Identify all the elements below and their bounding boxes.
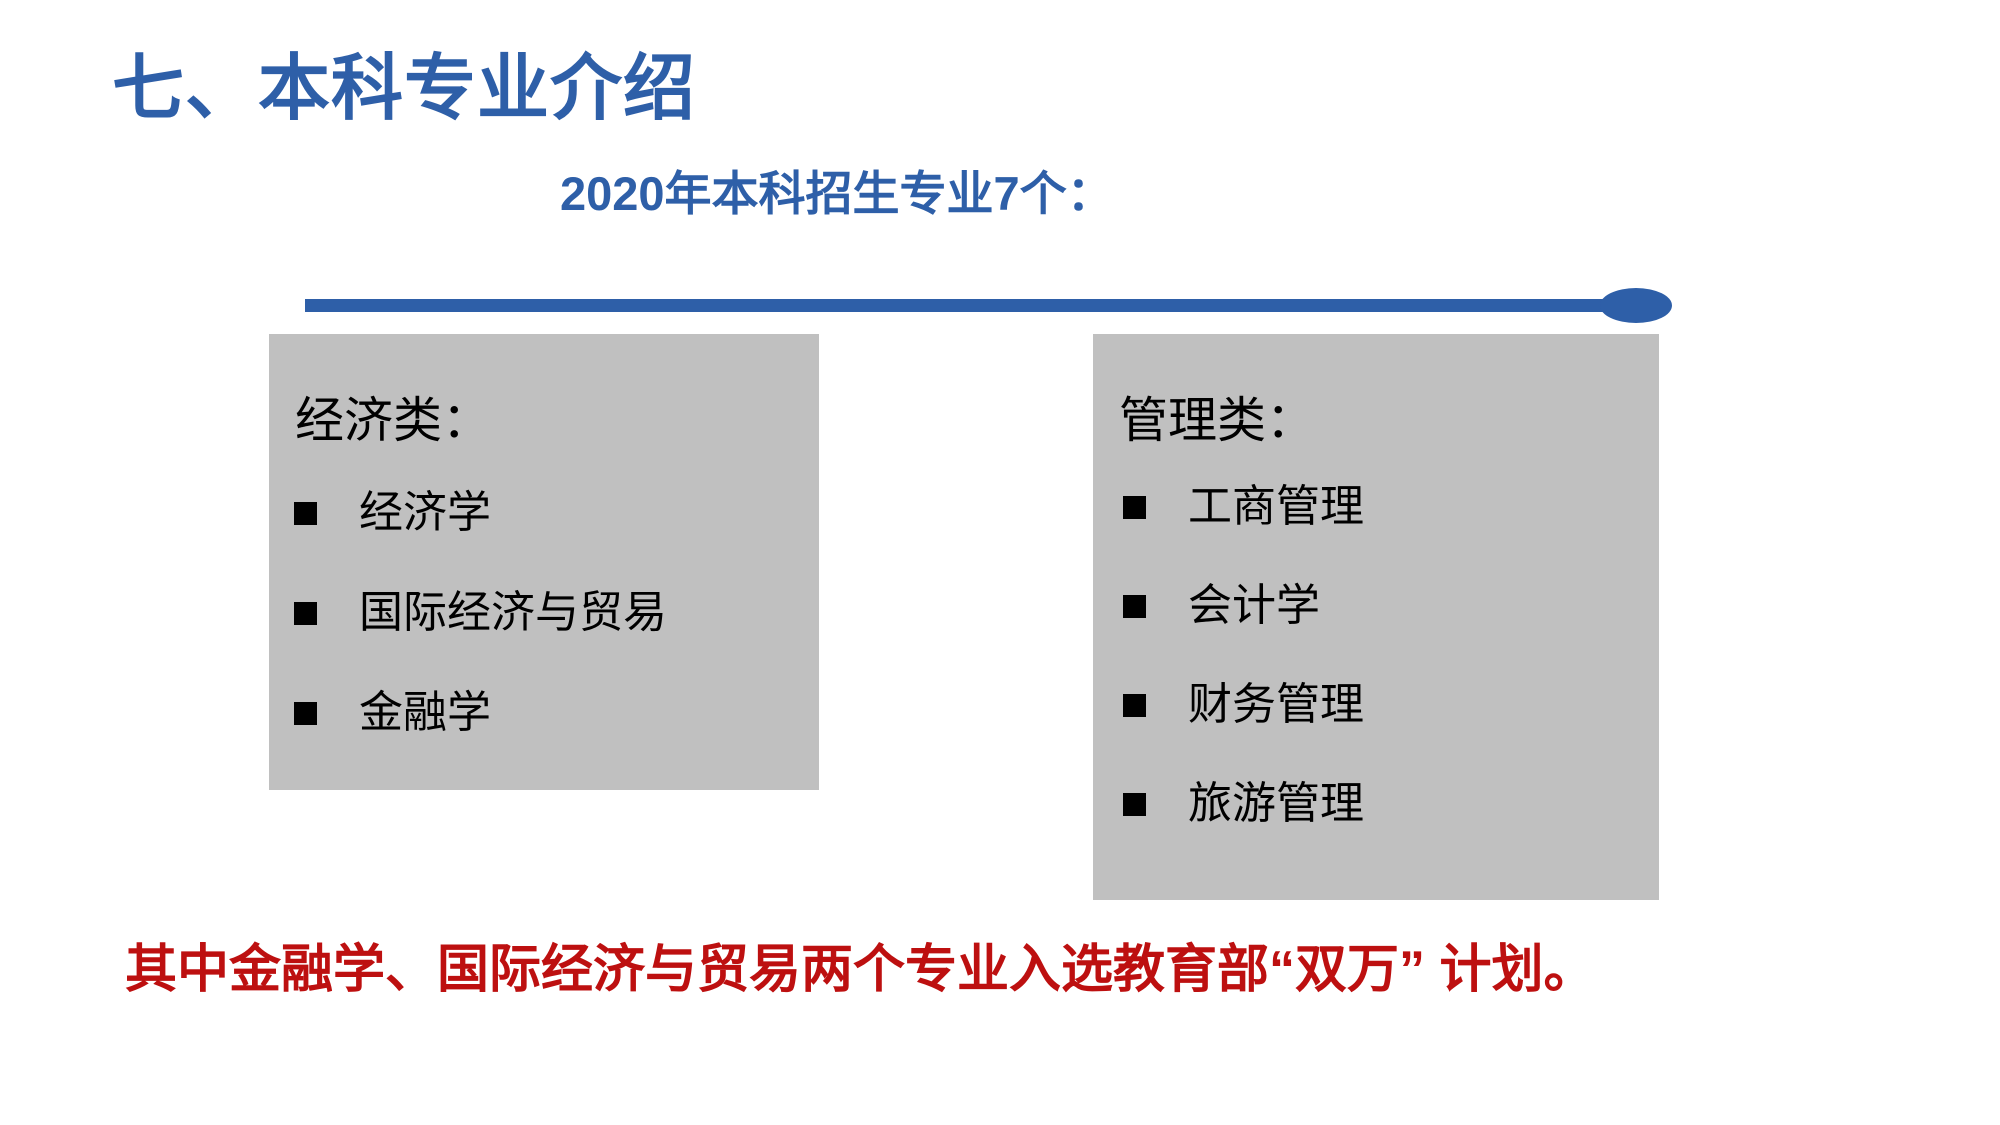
list-item-label: 旅游管理	[1188, 782, 1364, 826]
list-item-label: 经济学	[359, 491, 491, 535]
list-item: 旅游管理	[1123, 782, 1659, 826]
panel-economics: 经济类： 经济学 国际经济与贸易 金融学	[269, 334, 819, 790]
list-item: 工商管理	[1123, 485, 1659, 529]
list-item: 会计学	[1123, 584, 1659, 628]
bullet-square-icon	[1123, 793, 1146, 816]
list-item-label: 财务管理	[1188, 683, 1364, 727]
panel-management: 管理类： 工商管理 会计学 财务管理 旅游管理	[1093, 334, 1659, 900]
footnote-emphasis: 其中金融学、国际经济与贸易两个专业入选教育部“双万” 计划。	[125, 942, 1595, 999]
blue-round-cap-icon	[1600, 288, 1672, 323]
list-item: 国际经济与贸易	[294, 591, 819, 635]
blue-divider-rule	[305, 299, 1660, 312]
panel-economics-heading: 经济类：	[295, 396, 819, 445]
bullet-square-icon	[294, 502, 317, 525]
page-title: 七、本科专业介绍	[112, 52, 696, 128]
list-item: 金融学	[294, 691, 819, 735]
list-item: 财务管理	[1123, 683, 1659, 727]
list-item-label: 金融学	[359, 691, 491, 735]
list-item: 经济学	[294, 491, 819, 535]
bullet-square-icon	[1123, 595, 1146, 618]
list-item-label: 国际经济与贸易	[359, 591, 667, 635]
list-item-label: 工商管理	[1188, 485, 1364, 529]
list-item-label: 会计学	[1188, 584, 1320, 628]
slide-subtitle: 2020年本科招生专业7个：	[560, 168, 1114, 220]
bullet-square-icon	[294, 702, 317, 725]
bullet-square-icon	[1123, 496, 1146, 519]
panel-management-list: 工商管理 会计学 财务管理 旅游管理	[1093, 485, 1659, 826]
panel-economics-list: 经济学 国际经济与贸易 金融学	[269, 491, 819, 735]
bullet-square-icon	[1123, 694, 1146, 717]
bullet-square-icon	[294, 602, 317, 625]
panel-management-heading: 管理类：	[1119, 396, 1659, 445]
